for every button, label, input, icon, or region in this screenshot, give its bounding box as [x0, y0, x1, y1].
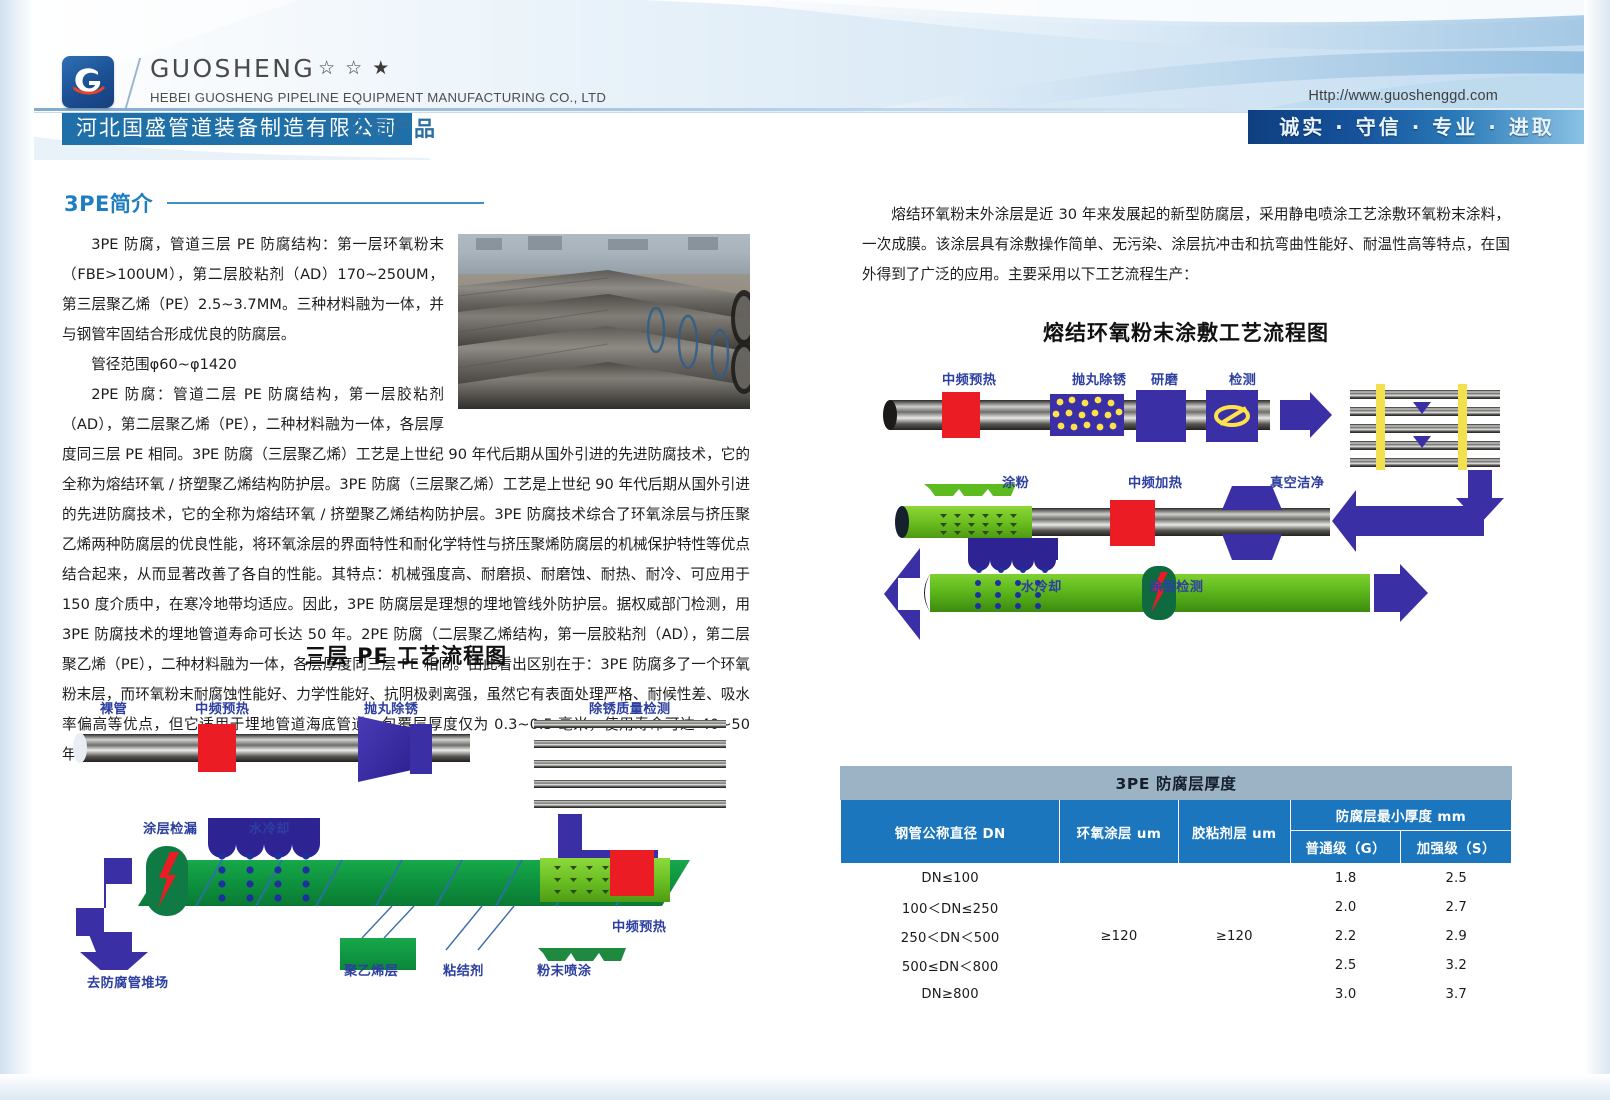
right-article: 熔结环氧粉末外涂层是近 30 年来发展起的新型防腐层，采用静电喷涂工艺涂敷环氧粉…: [862, 200, 1510, 290]
left-article: 3PE 防腐，管道三层 PE 防腐结构：第一层环氧粉末（FBE>100UM），第…: [62, 230, 750, 770]
cell-adhesive-thickness: ≥120: [1178, 864, 1290, 1009]
flow-arrow-left-1: [1332, 490, 1356, 552]
left-diagram-label-6: 中频预热: [612, 916, 666, 935]
left-diagram-title: 三层 PE 工艺流程图: [0, 640, 812, 670]
cell-dn-range: 100＜DN≤250: [841, 893, 1060, 922]
slogan-text: 诚实 · 守信 · 专业 · 进取: [1279, 117, 1555, 137]
inspection-block: [1206, 390, 1258, 442]
section-heading: 3PE简介: [64, 188, 484, 218]
brand-name-en: GUOSHENG: [150, 56, 315, 81]
flow-arrow-down-left-diagram: [76, 858, 154, 970]
cell-grade-s-value: 2.7: [1401, 893, 1512, 922]
table-header-min-thickness-group: 防腐层最小厚度 mm: [1290, 800, 1511, 831]
slogan-bar: 诚实 · 守信 · 专业 · 进取: [1248, 110, 1586, 144]
flow-arrow-right-1: [1280, 392, 1332, 438]
company-logo[interactable]: GUOSHENG ☆ ☆ ★ HEBEI GUOSHENG PIPELINE E…: [62, 56, 606, 108]
cell-dn-range: DN≥800: [841, 980, 1060, 1009]
pipe-rack-icon: [1350, 384, 1500, 470]
spec-table-wrapper: 3PE 防腐层厚度 钢管公称直径 DN 环氧涂层 um 胶粘剂层 um 防腐层最…: [840, 766, 1512, 1009]
section-label-products: 公司产品: [345, 114, 437, 146]
cell-grade-s-value: 2.5: [1401, 864, 1512, 893]
left-diagram-label-7: 去防腐管堆场: [87, 972, 169, 991]
left-diagram-label-5: 水冷却: [249, 818, 290, 837]
flow-arrow-right-2: [1374, 564, 1428, 622]
guosheng-g-logo-icon: [62, 56, 114, 108]
cell-epoxy-thickness: ≥120: [1060, 864, 1178, 1009]
anticorrosion-thickness-table: 3PE 防腐层厚度 钢管公称直径 DN 环氧涂层 um 胶粘剂层 um 防腐层最…: [840, 766, 1512, 1009]
brand-name-en-row: GUOSHENG ☆ ☆ ★: [150, 56, 606, 81]
cell-grade-s-value: 2.9: [1401, 922, 1512, 951]
cell-dn-range: 500≤DN＜800: [841, 951, 1060, 980]
cell-grade-g-value: 3.0: [1290, 980, 1401, 1009]
brand-stars-icon: ☆ ☆ ★: [318, 59, 391, 78]
table-header-adhesive: 胶粘剂层 um: [1178, 800, 1290, 864]
induction-preheat-block-left-2: [610, 850, 654, 896]
cell-grade-g-value: 2.2: [1290, 922, 1401, 951]
website-url[interactable]: Http://www.guoshenggd.com: [1308, 88, 1498, 104]
powder-coating-zone: [895, 506, 1032, 538]
right-edge-gradient: [1584, 0, 1610, 1100]
fbe-process-flow-diagram: [880, 378, 1510, 678]
left-diagram-label-8: 聚乙烯层: [344, 960, 398, 979]
right-diagram-label-8: 涂层检测: [1149, 576, 1203, 595]
cell-dn-range: DN≤100: [841, 864, 1060, 893]
table-body: DN≤100≥120≥1201.82.5100＜DN≤2502.02.7250＜…: [841, 864, 1512, 1009]
left-diagram-label-9: 粘结剂: [443, 960, 484, 979]
table-header-epoxy: 环氧涂层 um: [1060, 800, 1178, 864]
right-diagram-title: 熔结环氧粉末涂敷工艺流程图: [860, 317, 1512, 347]
bottom-edge-gradient: [0, 1074, 1610, 1100]
three-layer-pe-process-flow-diagram: [62, 710, 802, 970]
shot-blast-cone-left: [358, 716, 432, 782]
section-heading-text: 3PE简介: [64, 188, 153, 218]
right-diagram-label-2: 研磨: [1151, 369, 1178, 388]
section-heading-rule: [167, 202, 484, 204]
cell-dn-range: 250＜DN＜500: [841, 922, 1060, 951]
right-diagram-label-0: 中频预热: [942, 369, 996, 388]
brochure-page: GUOSHENG ☆ ☆ ★ HEBEI GUOSHENG PIPELINE E…: [0, 0, 1610, 1100]
right-diagram-label-3: 检测: [1229, 369, 1256, 388]
left-diagram-label-10: 粉末喷涂: [537, 960, 591, 979]
cell-grade-g-value: 2.0: [1290, 893, 1401, 922]
induction-heat-block-2: [1110, 500, 1155, 546]
right-diagram-label-7: 水冷却: [1021, 576, 1062, 595]
left-edge-gradient: [0, 0, 34, 1100]
coating-leak-detector-left: [146, 846, 188, 916]
logo-divider-slash: [125, 58, 141, 108]
left-diagram-label-1: 中频预热: [195, 698, 249, 717]
cell-grade-s-value: 3.2: [1401, 951, 1512, 980]
induction-preheat-block-1: [942, 392, 980, 438]
table-header-grade-g: 普通级（G）: [1290, 831, 1401, 864]
right-article-p1: 熔结环氧粉末外涂层是近 30 年来发展起的新型防腐层，采用静电喷涂工艺涂敷环氧粉…: [862, 200, 1510, 290]
page-header: GUOSHENG ☆ ☆ ★ HEBEI GUOSHENG PIPELINE E…: [0, 0, 1610, 160]
grinding-block: [1136, 390, 1186, 442]
left-diagram-label-2: 抛丸除锈: [364, 698, 418, 717]
cell-grade-g-value: 1.8: [1290, 864, 1401, 893]
table-header-dn: 钢管公称直径 DN: [841, 800, 1060, 864]
brand-full-name-en: HEBEI GUOSHENG PIPELINE EQUIPMENT MANUFA…: [150, 90, 606, 105]
cell-grade-s-value: 3.7: [1401, 980, 1512, 1009]
induction-preheat-block-left: [198, 724, 236, 772]
right-diagram-label-5: 中频加热: [1128, 472, 1182, 491]
table-row: DN≤100≥120≥1201.82.5: [841, 864, 1512, 893]
right-diagram-label-6: 真空洁净: [1270, 472, 1324, 491]
left-diagram-label-0: 裸管: [100, 698, 127, 717]
cell-grade-g-value: 2.5: [1290, 951, 1401, 980]
right-diagram-label-4: 涂粉: [1002, 472, 1029, 491]
table-header-grade-s: 加强级（S）: [1401, 831, 1512, 864]
table-title: 3PE 防腐层厚度: [841, 767, 1512, 800]
left-diagram-label-3: 除锈质量检测: [589, 698, 671, 717]
left-diagram-label-4: 涂层检漏: [143, 818, 197, 837]
powder-coat-section: [498, 858, 690, 906]
shot-blast-zone-1: [1050, 394, 1124, 436]
steel-pipes-stack-photo: [458, 234, 750, 409]
right-diagram-label-1: 抛丸除锈: [1072, 369, 1126, 388]
water-cooling-box: [968, 538, 1058, 573]
